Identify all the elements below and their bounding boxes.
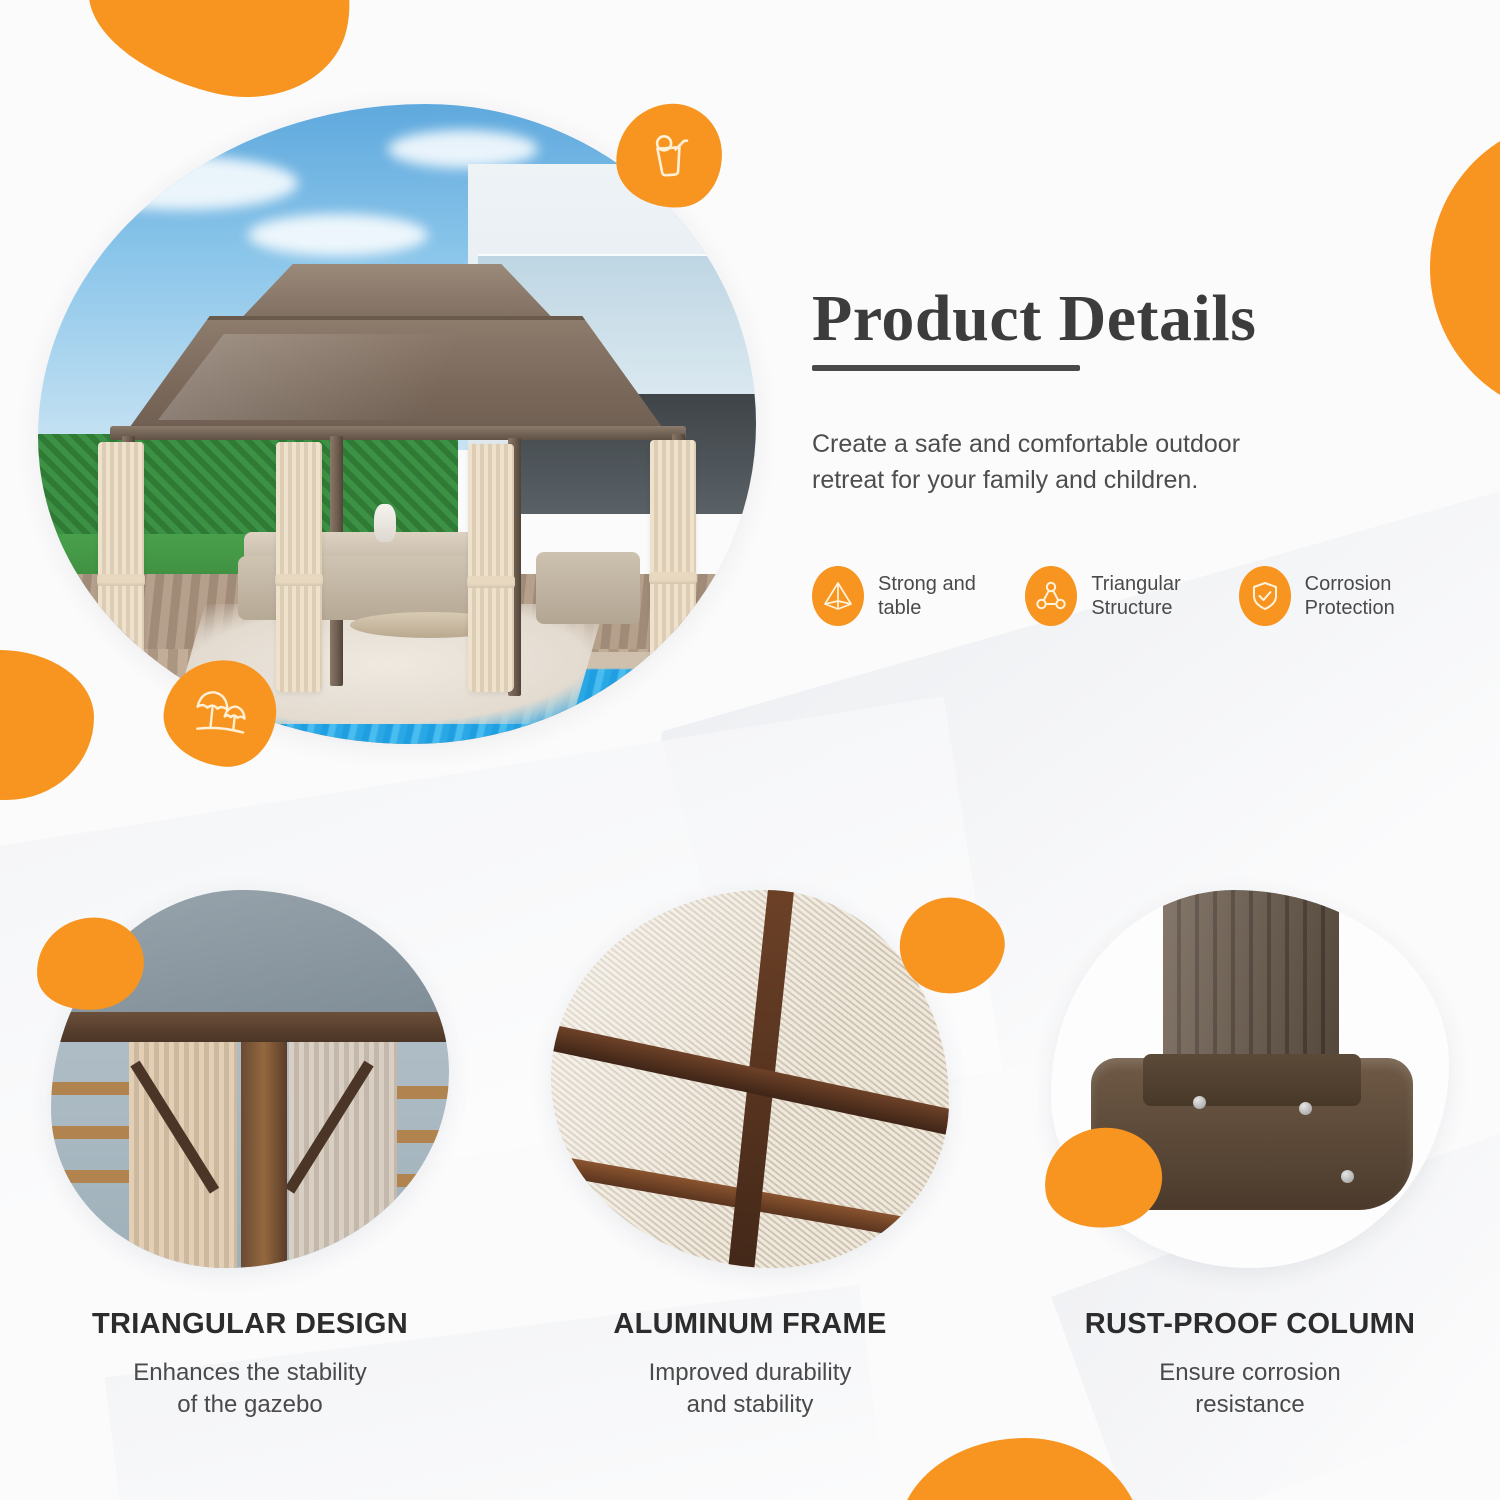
curtain-tieback — [97, 574, 145, 586]
feature-label-line1: Triangular — [1091, 573, 1180, 595]
feature-item-strong-and-table: Strong and table — [812, 566, 1025, 626]
bolt — [1341, 1170, 1354, 1183]
curtain-tieback — [649, 572, 697, 584]
card-subtitle-line1: Ensure corrosion — [1159, 1359, 1340, 1386]
card-title: RUST-PROOF COLUMN — [1000, 1308, 1500, 1341]
gazebo-curtain — [468, 444, 514, 692]
triangle-nodes-icon — [1035, 580, 1067, 612]
card-subtitle-line2: resistance — [1195, 1391, 1304, 1418]
feature-item-triangular-structure: Triangular Structure — [1025, 566, 1238, 626]
wood-rail — [51, 1126, 137, 1139]
product-details-section: Product Details Create a safe and comfor… — [812, 284, 1452, 626]
drink-glass-icon — [641, 128, 697, 184]
feature-label-line1: Corrosion — [1305, 573, 1392, 595]
gazebo-curtain — [276, 442, 322, 692]
base-plate-collar — [1143, 1054, 1361, 1106]
title-underline — [812, 365, 1080, 371]
card-subtitle-line1: Enhances the stability — [133, 1359, 366, 1386]
curtain-tieback — [275, 574, 323, 586]
cloud — [388, 130, 538, 168]
orange-blob-bottom — [898, 1438, 1143, 1500]
shield-check-icon — [1249, 580, 1281, 612]
bolt — [1299, 1102, 1312, 1115]
feature-label: Corrosion Protection — [1305, 572, 1395, 621]
feature-list: Strong and table Triangular Structure — [812, 566, 1452, 626]
feature-label: Triangular Structure — [1091, 572, 1180, 621]
beach-badge — [159, 654, 281, 771]
outdoor-armchair — [536, 552, 640, 624]
orange-blob-top-left — [72, 0, 373, 120]
card-subtitle: Improved durability and stability — [500, 1357, 1000, 1422]
drink-badge — [613, 100, 726, 211]
card-subtitle-line2: of the gazebo — [177, 1391, 322, 1418]
card-subtitle: Enhances the stability of the gazebo — [0, 1357, 500, 1422]
feature-label-line2: Protection — [1305, 597, 1395, 619]
wood-rail — [51, 1082, 137, 1095]
cloud — [248, 214, 428, 256]
feature-label-line2: table — [878, 597, 921, 619]
curtain-tieback — [467, 576, 515, 588]
gazebo-corner-post — [241, 1030, 287, 1268]
page-title: Product Details — [812, 284, 1452, 353]
card-subtitle-line1: Improved durability — [649, 1359, 852, 1386]
feature-label: Strong and table — [878, 572, 976, 621]
vase — [374, 504, 396, 542]
feature-cards: TRIANGULAR DESIGN Enhances the stability… — [0, 890, 1500, 1422]
triangle-nodes-icon-badge — [1025, 566, 1077, 626]
card-subtitle-line2: and stability — [687, 1391, 814, 1418]
card-title: TRIANGULAR DESIGN — [0, 1308, 500, 1341]
bolt — [1193, 1096, 1206, 1109]
page-subtitle: Create a safe and comfortable outdoor re… — [812, 427, 1282, 498]
card-title: ALUMINUM FRAME — [500, 1308, 1000, 1341]
pyramid-icon-badge — [812, 566, 864, 626]
gazebo-eave — [110, 426, 686, 440]
feature-label-line1: Strong and — [878, 573, 976, 595]
cloud — [68, 156, 298, 210]
gazebo-curtain — [650, 440, 696, 692]
card-photo-aluminum-frame — [551, 890, 949, 1268]
gazebo-header-beam — [51, 1012, 449, 1042]
gazebo-curtain — [98, 442, 144, 697]
wood-rail — [51, 1170, 137, 1183]
beach-umbrella-icon — [186, 682, 254, 744]
feature-item-corrosion-protection: Corrosion Protection — [1239, 566, 1452, 626]
card-subtitle: Ensure corrosion resistance — [1000, 1357, 1500, 1422]
shield-check-icon-badge — [1239, 566, 1291, 626]
pyramid-icon — [822, 580, 854, 612]
roof-highlight — [158, 334, 628, 420]
feature-label-line2: Structure — [1091, 597, 1172, 619]
